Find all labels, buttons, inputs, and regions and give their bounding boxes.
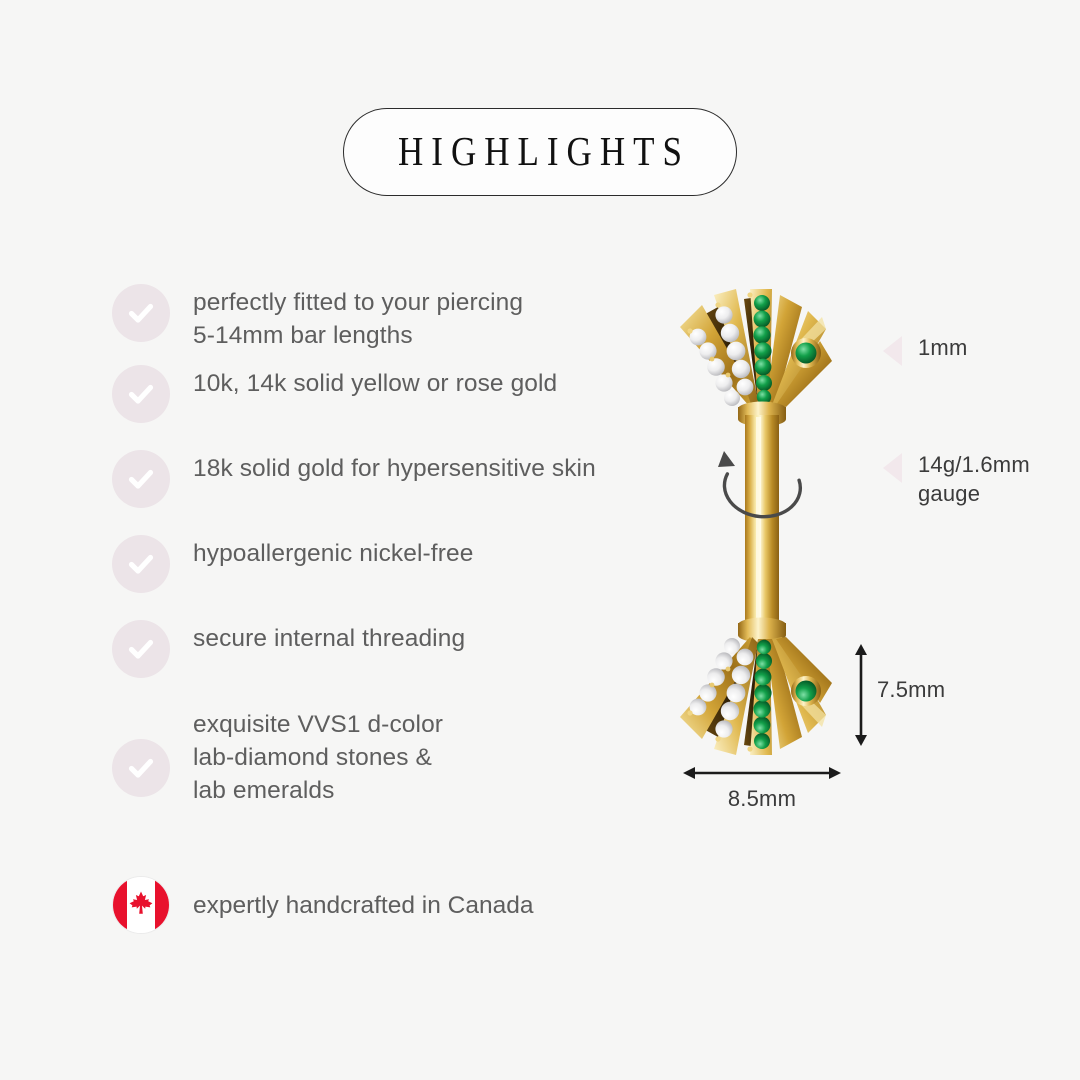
origin-label: expertly handcrafted in Canada [193,889,534,922]
list-item: perfectly fitted to your piercing 5-14mm… [112,284,523,352]
page-title: HIGHLIGHTS [390,128,690,175]
callout-label: 1mm [918,333,968,362]
triangle-left-icon [883,336,902,366]
check-circle-icon [112,284,170,342]
callout-gauge: 14g/1.6mm gauge [883,450,1030,508]
dimension-width: 8.5mm [680,760,850,820]
check-circle-icon [112,620,170,678]
dimension-height-label: 7.5mm [877,677,945,703]
callout-label: 14g/1.6mm gauge [918,450,1030,508]
list-item: 10k, 14k solid yellow or rose gold [112,365,557,423]
origin-row: expertly handcrafted in Canada [112,876,534,934]
highlights-title-pill: HIGHLIGHTS [343,108,737,196]
top-ornament [680,289,832,407]
list-item: hypoallergenic nickel-free [112,535,473,593]
check-circle-icon [112,535,170,593]
check-circle-icon [112,739,170,797]
list-item: secure internal threading [112,620,465,678]
list-item-label: 10k, 14k solid yellow or rose gold [193,365,557,400]
list-item: exquisite VVS1 d-color lab-diamond stone… [112,706,443,807]
dimension-height: 7.5mm [845,640,975,750]
list-item: 18k solid gold for hypersensitive skin [112,450,596,508]
list-item-label: secure internal threading [193,620,465,655]
arrow-horizontal-icon [680,760,844,786]
check-circle-icon [112,365,170,423]
list-item-label: exquisite VVS1 d-color lab-diamond stone… [193,706,443,807]
bar-shaft [745,415,779,627]
canada-flag-icon [112,876,170,934]
list-item-label: 18k solid gold for hypersensitive skin [193,450,596,485]
triangle-left-icon [883,453,902,483]
product-image [640,255,870,795]
bottom-ornament [680,637,832,755]
list-item-label: hypoallergenic nickel-free [193,535,473,570]
callout-1mm: 1mm [883,333,968,366]
dimension-width-label: 8.5mm [680,786,844,812]
list-item-label: perfectly fitted to your piercing 5-14mm… [193,284,523,352]
check-circle-icon [112,450,170,508]
